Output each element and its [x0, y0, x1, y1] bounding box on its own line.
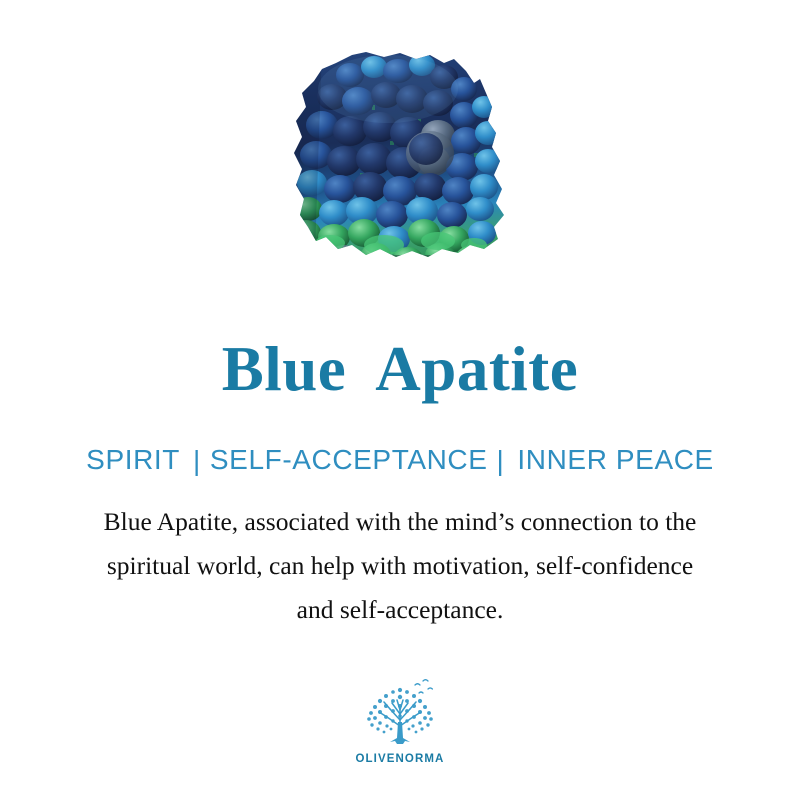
description-line: spiritual world, can help with motivatio… [40, 544, 760, 588]
blue-apatite-specimen-image [288, 49, 512, 281]
keyword-separator: | [488, 445, 514, 477]
description-line: and self-acceptance. [40, 588, 760, 632]
brand-wordmark: OLIVENORMA [356, 753, 445, 765]
keyword-list: SPIRIT|SELF-ACCEPTANCE|INNER PEACE [0, 444, 800, 476]
brand-logo: OLIVENORMA [0, 676, 800, 765]
description-line: Blue Apatite, associated with the mind’s… [40, 500, 760, 544]
product-card: Blue Apatite SPIRIT|SELF-ACCEPTANCE|INNE… [0, 0, 800, 800]
product-description: Blue Apatite, associated with the mind’s… [40, 500, 760, 632]
keyword-self-acceptance: SELF-ACCEPTANCE [210, 444, 488, 475]
tree-icon [357, 676, 443, 750]
specimen-image-container [0, 40, 800, 290]
page-title: Blue Apatite [0, 336, 800, 402]
keyword-separator: | [184, 445, 210, 477]
keyword-inner-peace: INNER PEACE [517, 444, 713, 475]
keyword-spirit: SPIRIT [86, 444, 180, 475]
